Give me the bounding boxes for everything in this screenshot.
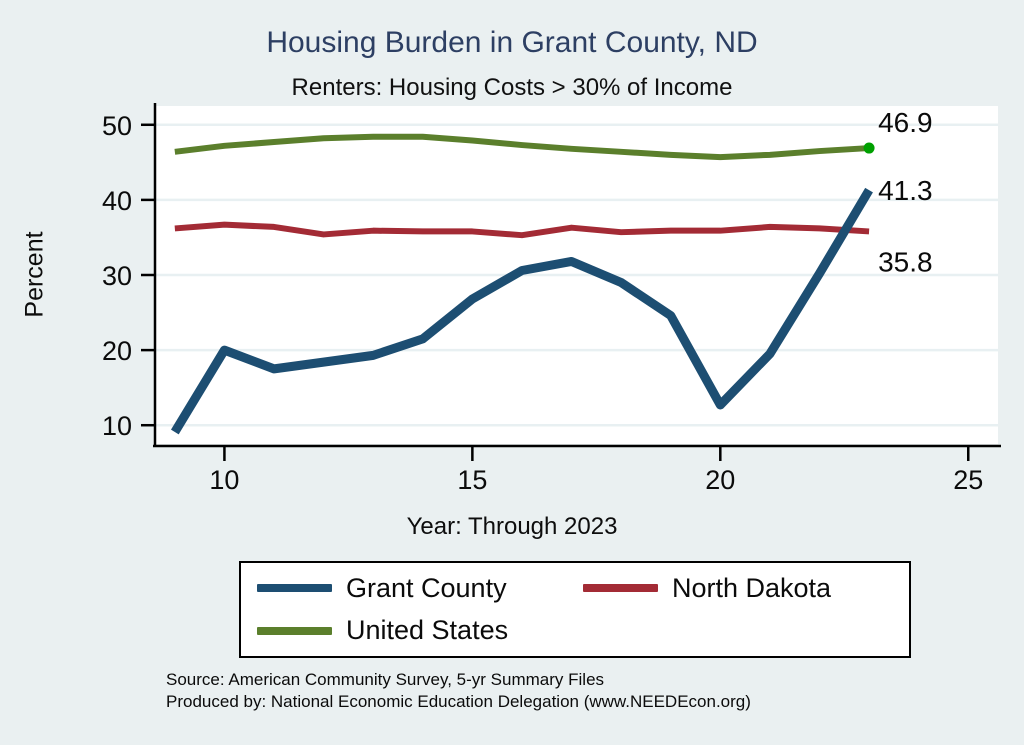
legend-label: Grant County xyxy=(346,573,507,604)
footer-source: Source: American Community Survey, 5-yr … xyxy=(166,669,751,691)
chart-container: Housing Burden in Grant County, ND Rente… xyxy=(0,0,1024,745)
x-tick-label: 20 xyxy=(705,465,735,495)
series-end-label: 46.9 xyxy=(878,107,933,138)
series-end-marker xyxy=(864,143,875,154)
legend-item[interactable]: North Dakota xyxy=(583,573,909,604)
x-tick-label: 25 xyxy=(953,465,983,495)
legend-item[interactable]: United States xyxy=(257,615,583,646)
legend-label: North Dakota xyxy=(672,573,831,604)
y-tick-label: 20 xyxy=(102,336,132,366)
y-tick-label: 10 xyxy=(102,411,132,441)
legend-swatch xyxy=(583,584,658,592)
legend-swatch xyxy=(257,627,332,635)
legend-item[interactable]: Grant County xyxy=(257,573,583,604)
y-tick-label: 40 xyxy=(102,186,132,216)
y-tick-label: 30 xyxy=(102,261,132,291)
x-tick-label: 10 xyxy=(209,465,239,495)
legend-swatch xyxy=(257,584,332,592)
series-end-labels: 41.335.846.9 xyxy=(878,107,933,277)
footer-note: Source: American Community Survey, 5-yr … xyxy=(166,669,751,714)
legend: Grant CountyNorth DakotaUnited States xyxy=(239,561,911,658)
series-end-label: 41.3 xyxy=(878,175,933,206)
x-tick-label: 15 xyxy=(457,465,487,495)
footer-producer: Produced by: National Economic Education… xyxy=(166,691,751,713)
y-tick-label: 50 xyxy=(102,111,132,141)
series-end-label: 35.8 xyxy=(878,246,933,277)
legend-label: United States xyxy=(346,615,508,646)
